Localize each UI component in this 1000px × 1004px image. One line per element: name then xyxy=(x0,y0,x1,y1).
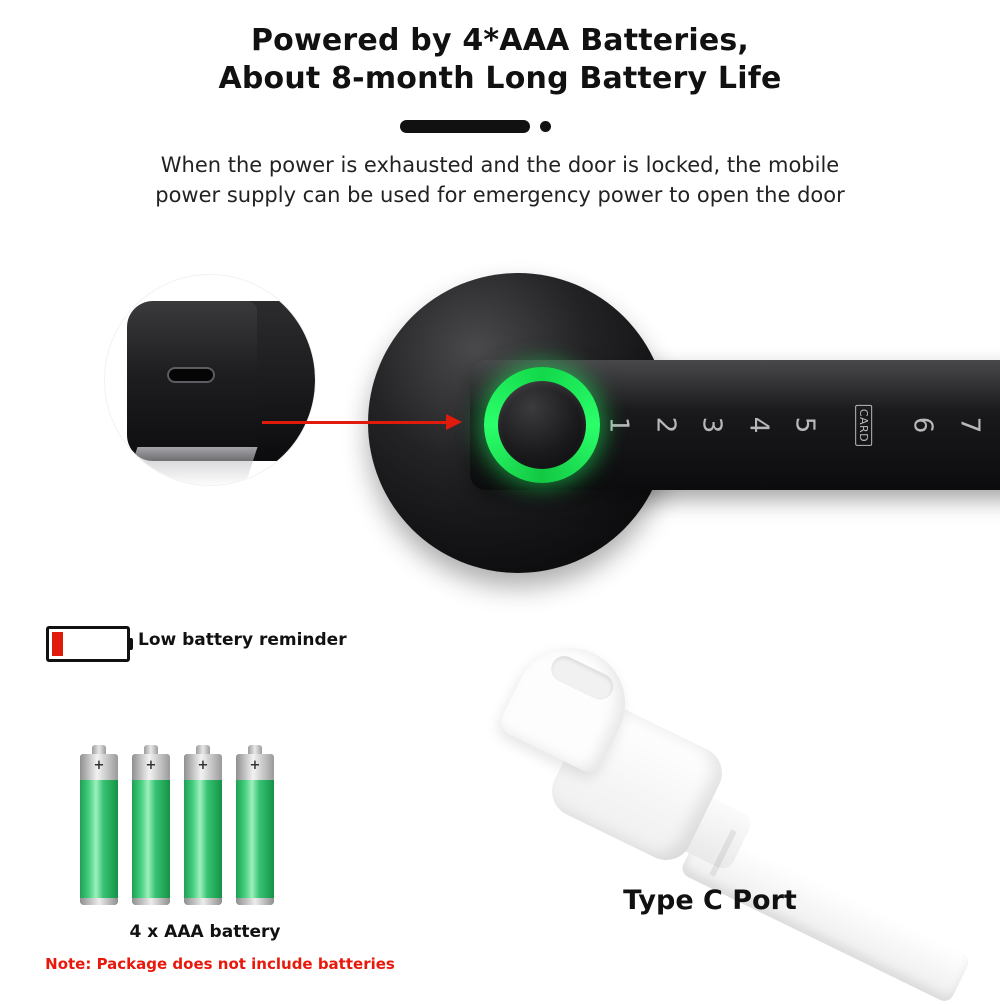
battery-plus-icon: + xyxy=(132,759,170,772)
battery-caption: 4 x AAA battery xyxy=(40,922,370,942)
callout-pointer-arrow-icon xyxy=(446,414,462,430)
battery-note: Note: Package does not include batteries xyxy=(10,955,430,973)
battery-body xyxy=(80,780,118,905)
closeup-shadow xyxy=(125,447,258,485)
keypad-key-7: 7 xyxy=(954,417,984,434)
low-battery-icon-cap xyxy=(127,638,133,650)
divider-bar xyxy=(400,120,530,133)
keypad-keys: 1 2 3 4 5 CARD 6 7 8 xyxy=(610,360,1000,490)
battery-tip xyxy=(92,745,106,754)
type-c-label: Type C Port xyxy=(530,885,890,916)
keypad-key-4: 4 xyxy=(743,417,773,434)
page-subtitle-line2: power supply can be used for emergency p… xyxy=(0,180,1000,210)
fingerprint-sensor xyxy=(484,367,600,483)
aaa-battery-group: + + + + xyxy=(80,745,320,910)
battery-plus-icon: + xyxy=(236,759,274,772)
keypad-key-3: 3 xyxy=(696,417,726,434)
battery-tip xyxy=(144,745,158,754)
page-subtitle-line1: When the power is exhausted and the door… xyxy=(0,150,1000,180)
page-title: Powered by 4*AAA Batteries, About 8-mont… xyxy=(0,22,1000,98)
product-photo: 1 2 3 4 5 CARD 6 7 8 xyxy=(0,255,1000,600)
battery-body xyxy=(236,780,274,905)
keypad-key-1: 1 xyxy=(603,417,633,434)
low-battery-reminder: Low battery reminder xyxy=(46,622,466,662)
low-battery-icon xyxy=(46,626,130,662)
low-battery-icon-fill xyxy=(52,632,63,656)
aaa-battery-4: + xyxy=(236,745,274,905)
keypad-key-2: 2 xyxy=(650,417,680,434)
title-divider xyxy=(0,116,1000,136)
battery-tip xyxy=(196,745,210,754)
aaa-battery-2: + xyxy=(132,745,170,905)
divider-dot xyxy=(540,121,551,132)
callout-pointer-line xyxy=(262,421,452,424)
page-subtitle: When the power is exhausted and the door… xyxy=(0,150,1000,210)
page-title-line2: About 8-month Long Battery Life xyxy=(0,60,1000,98)
aaa-battery-3: + xyxy=(184,745,222,905)
battery-body xyxy=(132,780,170,905)
page-title-line1: Powered by 4*AAA Batteries, xyxy=(251,23,749,58)
low-battery-label: Low battery reminder xyxy=(138,630,347,650)
keypad-key-5: 5 xyxy=(789,417,819,434)
usb-c-port-closeup xyxy=(105,275,315,485)
keypad-key-card: CARD xyxy=(855,404,872,445)
battery-plus-icon: + xyxy=(80,759,118,772)
battery-tip xyxy=(248,745,262,754)
keypad-key-6: 6 xyxy=(907,417,937,434)
battery-plus-icon: + xyxy=(184,759,222,772)
battery-body xyxy=(184,780,222,905)
fingerprint-button xyxy=(498,381,586,469)
usb-c-port-icon xyxy=(167,367,215,383)
aaa-battery-1: + xyxy=(80,745,118,905)
